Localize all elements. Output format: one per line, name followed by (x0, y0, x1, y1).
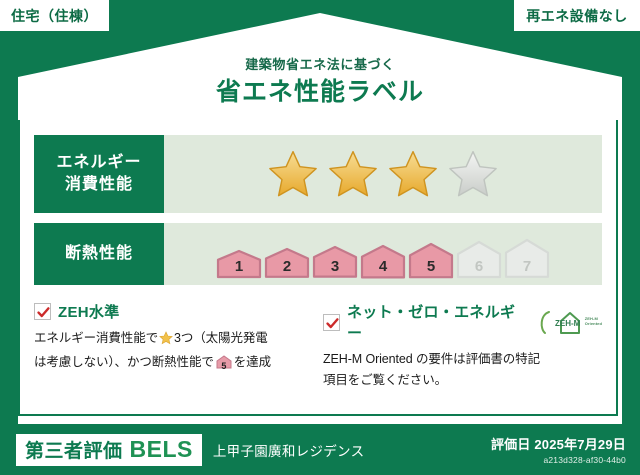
energy-performance-label: 住宅（住棟） 再エネ設備なし 建築物省エネ法に基づく 省エネ性能ラベル エネルギ… (0, 0, 640, 475)
label-title: 建築物省エネ法に基づく 省エネ性能ラベル (0, 57, 640, 107)
zeh-text-d: を達成 (234, 355, 271, 369)
criterion-zeh-standard: ZEH水準 エネルギー消費性能で3つ（太陽光発電 は考慮しない）、かつ断熱性能で… (34, 301, 313, 390)
insulation-level-value: 3 (312, 258, 358, 275)
evaluation-date: 評価日 2025年7月29日 (491, 434, 626, 453)
insulation-level-value: 1 (216, 258, 262, 275)
label-footer: 第三者評価 BELS 上甲子園廣和レジデンス 評価日 2025年7月29日 a2… (0, 424, 640, 475)
zeh-standard-title: ZEH水準 (58, 301, 120, 322)
star-filled-icon (267, 149, 319, 199)
label-main-title: 省エネ性能ラベル (0, 77, 640, 107)
criterion-net-zero-energy: ネット・ゼロ・エネルギー ZEH-M ZEH-M Oriented (323, 301, 602, 390)
insulation-level-value: 6 (456, 258, 502, 275)
insulation-level-badge: 5 (408, 242, 454, 279)
bels-jp-text: 第三者評価 (25, 436, 123, 463)
insulation-level-badge: 6 (456, 240, 502, 279)
check-icon (323, 314, 340, 331)
insulation-level-badge: 7 (504, 238, 550, 279)
star-filled-icon (387, 149, 439, 199)
insulation-performance-row: 断熱性能 1234567 (34, 223, 602, 285)
insulation-level-scale: 1234567 (164, 223, 602, 285)
insulation-level-badge: 4 (360, 244, 406, 279)
zeh-text-a: エネルギー消費性能で (34, 331, 158, 345)
energy-label-line1: エネルギー (56, 152, 141, 174)
bels-en-text: BELS (130, 436, 193, 463)
insulation-level-value: 7 (504, 258, 550, 275)
inline-level-value: 5 (216, 359, 232, 374)
zeh-text-b: 3つ（太陽光発電 (174, 331, 268, 345)
insulation-level-badge: 3 (312, 245, 358, 279)
energy-star-rating (164, 135, 602, 213)
criteria-section: ZEH水準 エネルギー消費性能で3つ（太陽光発電 は考慮しない）、かつ断熱性能で… (34, 301, 602, 390)
insulation-level-value: 4 (360, 258, 406, 275)
insulation-label-box: 断熱性能 (34, 223, 164, 285)
star-filled-icon (327, 149, 379, 199)
insulation-level-badge: 1 (216, 249, 262, 279)
inline-level-badge: 5 (216, 355, 232, 376)
renewable-energy-tag: 再エネ設備なし (514, 0, 640, 31)
zeh-standard-description: エネルギー消費性能で3つ（太陽光発電 は考慮しない）、かつ断熱性能で5を達成 (34, 328, 313, 375)
net-zero-title: ネット・ゼロ・エネルギー (347, 301, 528, 343)
label-id: a213d328-af30-44b0 (491, 455, 626, 465)
label-subtitle: 建築物省エネ法に基づく (0, 57, 640, 73)
energy-label-line2: 消費性能 (65, 174, 133, 196)
zeh-m-caption-line2: Oriented (585, 321, 602, 326)
bels-badge: 第三者評価 BELS (16, 434, 202, 466)
zeh-standard-heading: ZEH水準 (34, 301, 313, 322)
ratings-frame: エネルギー 消費性能 断熱性能 1234567 ZEH水 (18, 120, 618, 416)
footer-meta: 評価日 2025年7月29日 a213d328-af30-44b0 (491, 434, 626, 465)
energy-performance-row: エネルギー 消費性能 (34, 135, 602, 213)
net-zero-text-b: 項目をご覧ください。 (323, 373, 447, 387)
check-icon (34, 303, 51, 320)
star-empty-icon (447, 149, 499, 199)
insulation-label: 断熱性能 (65, 243, 133, 265)
building-type-tag: 住宅（住棟） (0, 0, 109, 31)
net-zero-text-a: ZEH-M Oriented の要件は評価書の特記 (323, 352, 540, 366)
inline-star-icon (159, 334, 173, 348)
zeh-m-logo: ZEH-M ZEH-M Oriented (539, 309, 602, 335)
energy-performance-label-box: エネルギー 消費性能 (34, 135, 164, 213)
svg-text:ZEH-M: ZEH-M (555, 319, 581, 328)
net-zero-heading: ネット・ゼロ・エネルギー ZEH-M ZEH-M Oriented (323, 301, 602, 343)
insulation-level-value: 5 (408, 258, 454, 275)
zeh-m-logo-caption: ZEH-M Oriented (585, 317, 602, 326)
zeh-text-c: は考慮しない）、かつ断熱性能で (34, 355, 214, 369)
net-zero-description: ZEH-M Oriented の要件は評価書の特記 項目をご覧ください。 (323, 349, 602, 390)
building-name: 上甲子園廣和レジデンス (213, 440, 365, 460)
insulation-level-value: 2 (264, 258, 310, 275)
insulation-level-badge: 2 (264, 247, 310, 279)
